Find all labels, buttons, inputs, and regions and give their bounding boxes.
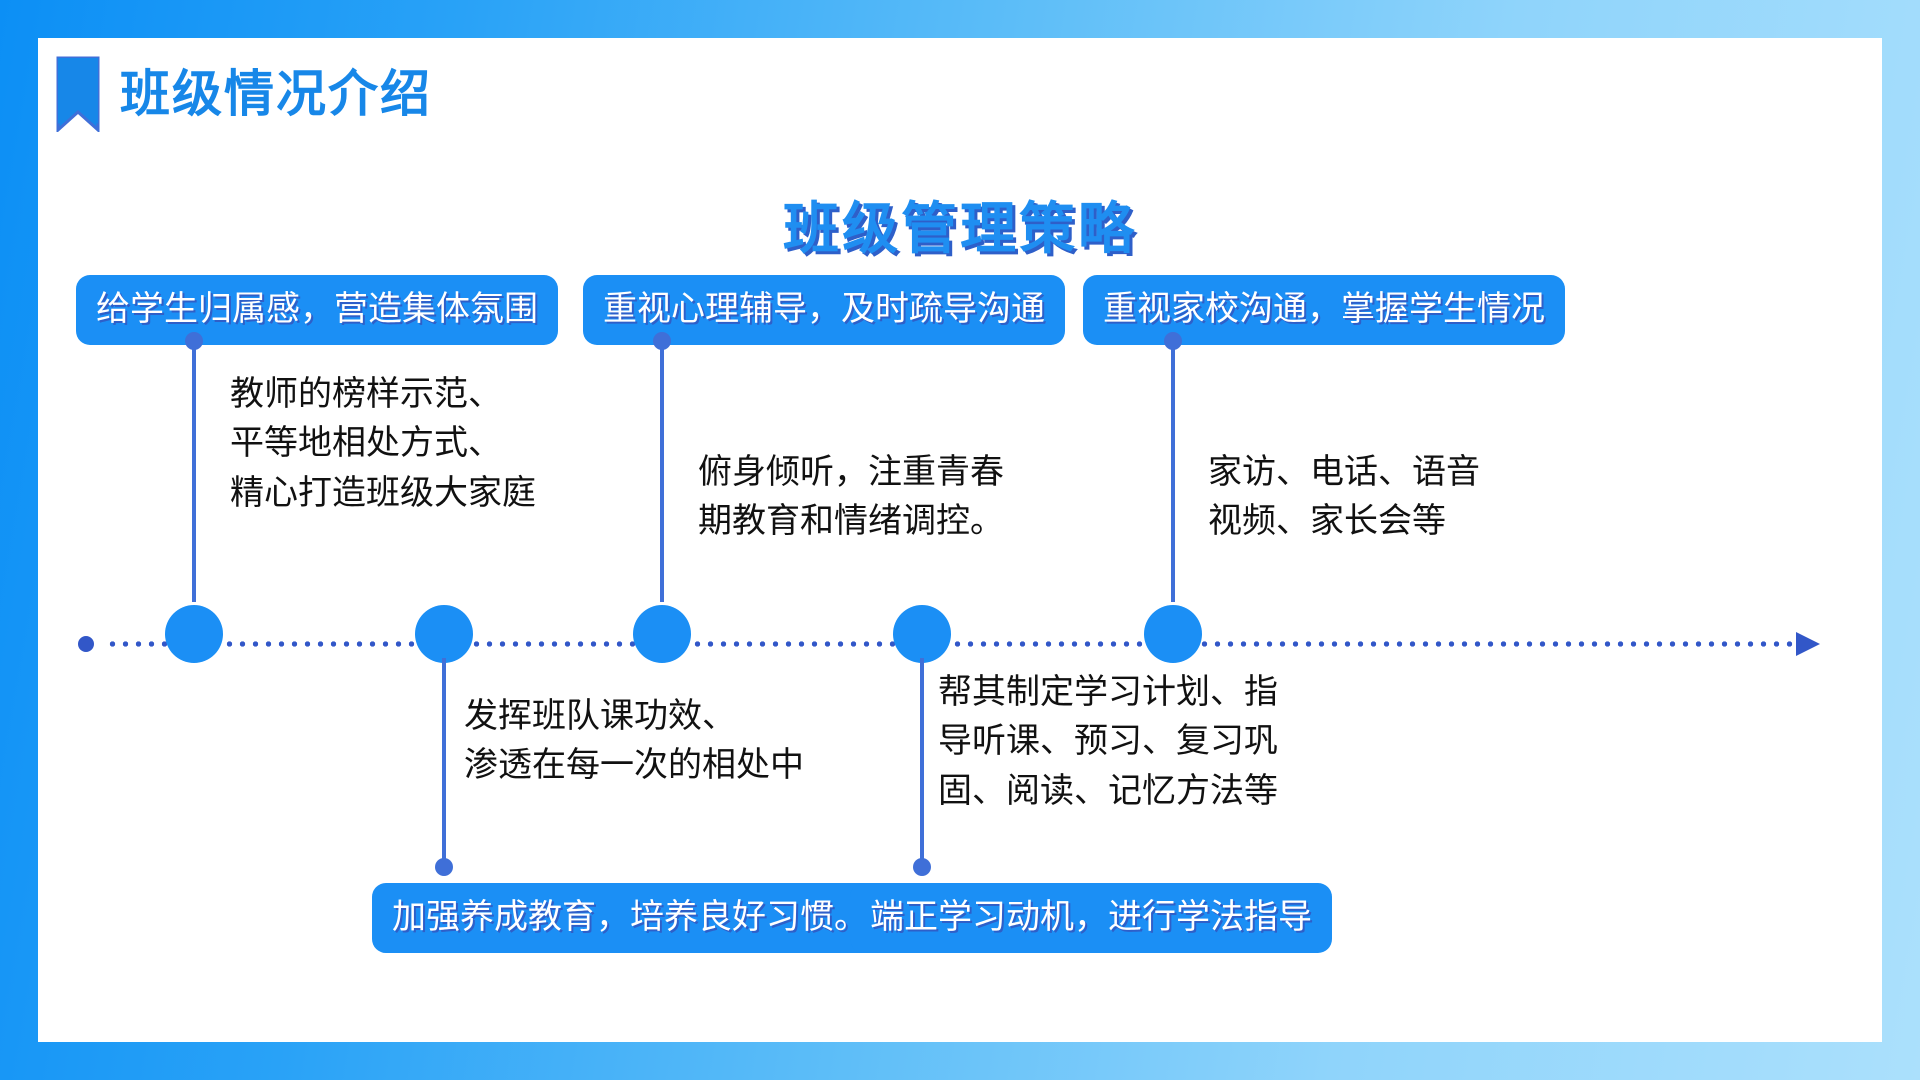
connector-dot-icon <box>913 858 931 876</box>
connector-dot-icon <box>185 332 203 350</box>
connector-dot-icon <box>1164 332 1182 350</box>
connector-dot-icon <box>435 858 453 876</box>
node-desc-4: 帮其制定学习计划、指 导听课、预习、复习巩 固、阅读、记忆方法等 <box>938 668 1278 816</box>
node-circle-1[interactable] <box>165 605 223 663</box>
slide-root: 班级情况介绍 班级管理策略 给学生归属感，营造集体氛围 教师的榜样示范、 平等地… <box>0 0 1920 1080</box>
node-desc-1: 教师的榜样示范、 平等地相处方式、 精心打造班级大家庭 <box>230 370 536 518</box>
timeline-axis <box>78 632 1828 656</box>
node-connector-1 <box>192 338 196 602</box>
node-desc-5: 家访、电话、语音 视频、家长会等 <box>1208 448 1480 547</box>
content-panel: 班级情况介绍 班级管理策略 给学生归属感，营造集体氛围 教师的榜样示范、 平等地… <box>38 38 1882 1042</box>
node-pill-5[interactable]: 重视家校沟通，掌握学生情况 <box>1083 275 1565 345</box>
node-circle-3[interactable] <box>633 605 691 663</box>
node-connector-5 <box>1171 338 1175 602</box>
node-pill-4[interactable]: 端正学习动机，进行学法指导 <box>850 883 1332 953</box>
node-circle-5[interactable] <box>1144 605 1202 663</box>
slide-header: 班级情况介绍 <box>56 56 432 132</box>
axis-start-dot <box>78 636 94 652</box>
node-pill-2[interactable]: 加强养成教育，培养良好习惯。 <box>372 883 888 953</box>
node-connector-3 <box>660 338 664 602</box>
node-circle-4[interactable] <box>893 605 951 663</box>
node-connector-2 <box>442 658 446 870</box>
axis-dotted-line <box>106 641 1798 647</box>
node-desc-3: 俯身倾听，注重青春 期教育和情绪调控。 <box>698 448 1004 547</box>
node-connector-4 <box>920 658 924 870</box>
header-title: 班级情况介绍 <box>120 69 432 119</box>
node-pill-1[interactable]: 给学生归属感，营造集体氛围 <box>76 275 558 345</box>
axis-arrow-icon <box>1796 632 1820 656</box>
bookmark-icon <box>56 56 100 132</box>
connector-dot-icon <box>653 332 671 350</box>
node-desc-2: 发挥班队课功效、 渗透在每一次的相处中 <box>464 692 804 791</box>
page-title: 班级管理策略 <box>38 184 1882 265</box>
node-circle-2[interactable] <box>415 605 473 663</box>
